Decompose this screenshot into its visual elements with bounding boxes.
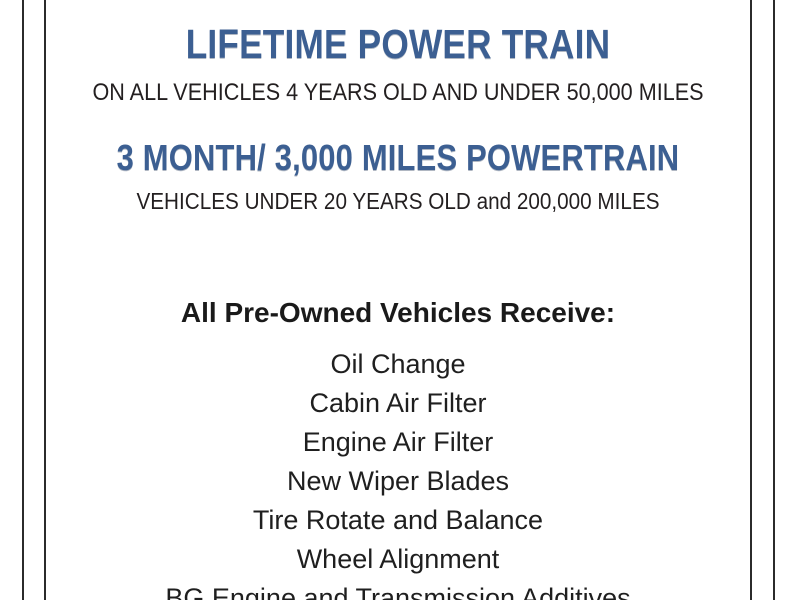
right-inner-rule	[750, 0, 752, 600]
promo-subtitle-3month-powertrain: VEHICLES UNDER 20 YEARS OLD and 200,000 …	[81, 190, 715, 213]
service-item: New Wiper Blades	[46, 462, 750, 501]
service-item: Oil Change	[46, 345, 750, 384]
services-section: All Pre-Owned Vehicles Receive: Oil Chan…	[46, 299, 750, 600]
right-outer-rule	[773, 0, 775, 600]
services-list: Oil ChangeCabin Air FilterEngine Air Fil…	[46, 345, 750, 600]
service-item: Cabin Air Filter	[46, 384, 750, 423]
promo-title-3month-powertrain: 3 MONTH/ 3,000 MILES POWERTRAIN	[95, 140, 700, 176]
promo-title-lifetime-powertrain: LIFETIME POWER TRAIN	[95, 24, 700, 65]
promo-subtitle-lifetime-powertrain: ON ALL VEHICLES 4 YEARS OLD AND UNDER 50…	[81, 81, 715, 105]
service-item: Engine Air Filter	[46, 423, 750, 462]
service-item: Tire Rotate and Balance	[46, 501, 750, 540]
promo-3month-powertrain: 3 MONTH/ 3,000 MILES POWERTRAIN VEHICLES…	[46, 140, 750, 213]
services-heading: All Pre-Owned Vehicles Receive:	[46, 299, 750, 327]
flyer-content: LIFETIME POWER TRAIN ON ALL VEHICLES 4 Y…	[46, 0, 750, 600]
service-item: BG Engine and Transmission Additives	[46, 579, 750, 600]
promo-lifetime-powertrain: LIFETIME POWER TRAIN ON ALL VEHICLES 4 Y…	[46, 24, 750, 105]
left-outer-rule	[22, 0, 24, 600]
service-item: Wheel Alignment	[46, 540, 750, 579]
flyer-page: LIFETIME POWER TRAIN ON ALL VEHICLES 4 Y…	[0, 0, 800, 600]
